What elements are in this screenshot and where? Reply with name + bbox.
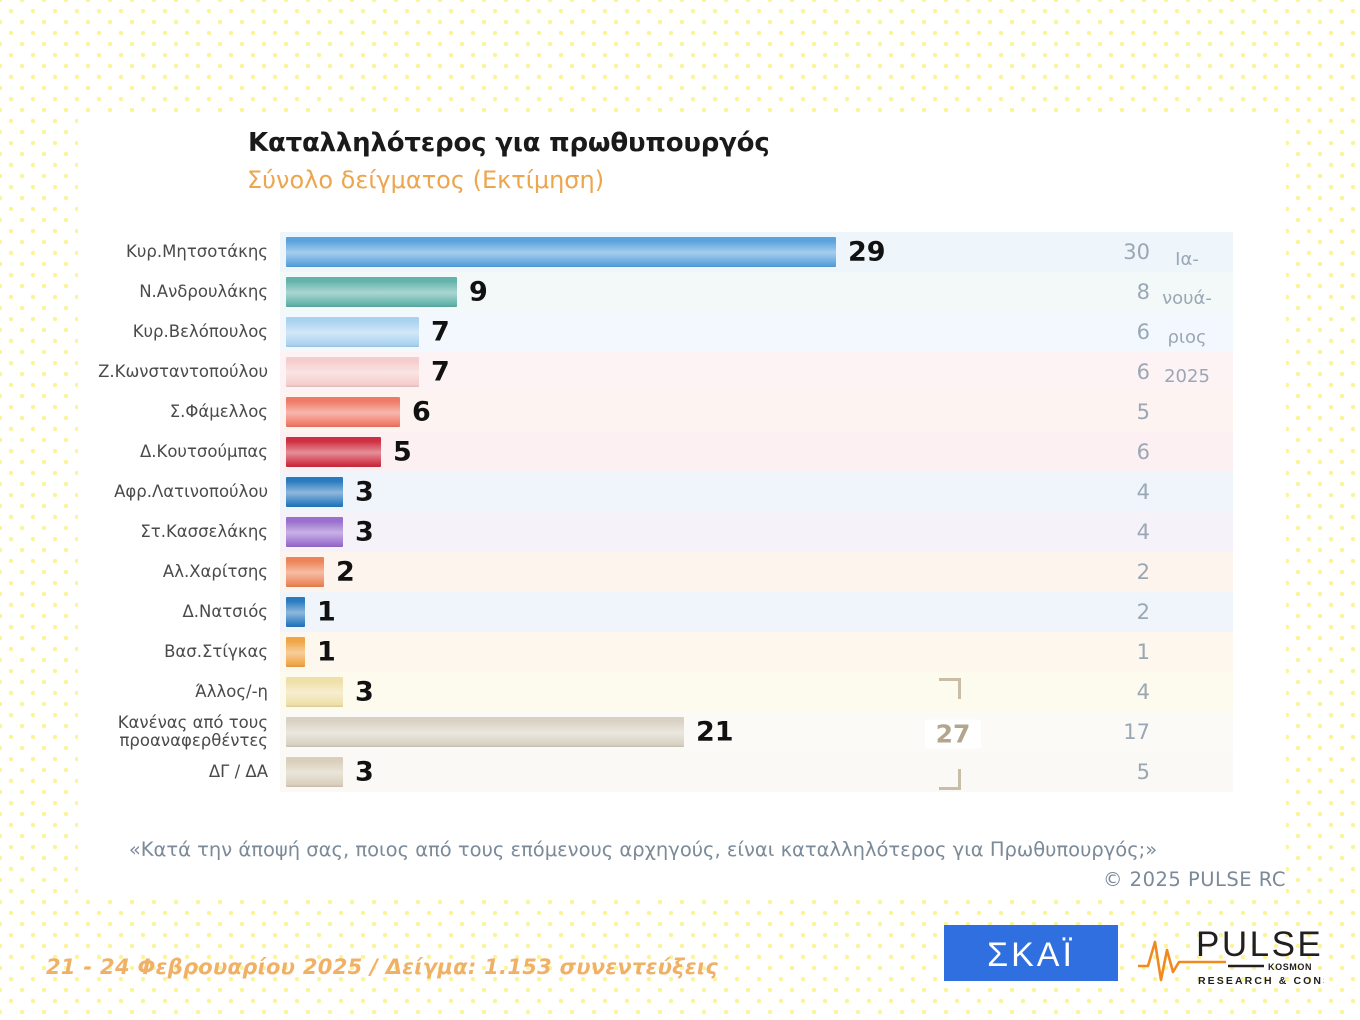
row-body: 2117 — [280, 712, 1233, 752]
bar-value-label: 1 — [317, 637, 336, 668]
bar — [286, 597, 305, 627]
month-caption-line-2: νουά- — [1152, 279, 1222, 318]
bar-value-label: 9 — [469, 277, 488, 308]
row-label: Αφρ.Λατινοπούλου — [78, 483, 280, 501]
bar-value-label: 7 — [431, 357, 450, 388]
svg-text:PULSE: PULSE — [1196, 925, 1323, 964]
bar-value-label: 1 — [317, 597, 336, 628]
row-body: 76 — [280, 352, 1233, 392]
previous-month-value: 6 — [1104, 360, 1150, 384]
table-row: Στ.Κασσελάκης34 — [78, 512, 1233, 552]
bar-value-label: 7 — [431, 317, 450, 348]
row-background — [280, 472, 1233, 512]
bar-value-label: 29 — [848, 237, 886, 268]
previous-month-value: 30 — [1104, 240, 1150, 264]
row-body: 12 — [280, 592, 1233, 632]
previous-month-value: 6 — [1104, 320, 1150, 344]
bar-value-label: 3 — [355, 677, 374, 708]
bar-value-label: 3 — [355, 517, 374, 548]
bar — [286, 517, 343, 547]
row-background — [280, 432, 1233, 472]
bracket-bottom-stem — [958, 769, 961, 790]
table-row: Δ.Νατσιός12 — [78, 592, 1233, 632]
row-background — [280, 312, 1233, 352]
row-body: 2930 — [280, 232, 1233, 272]
previous-month-caption: Ια- νουά- ριος 2025 — [1152, 240, 1222, 396]
bracket-sum-annotation: 27 — [925, 678, 987, 790]
row-body: 34 — [280, 512, 1233, 552]
previous-month-value: 5 — [1104, 400, 1150, 424]
row-label: ΔΓ / ΔΑ — [78, 763, 280, 781]
bar-value-label: 3 — [355, 757, 374, 788]
row-label: Ζ.Κωνσταντοπούλου — [78, 363, 280, 381]
previous-month-value: 4 — [1104, 480, 1150, 504]
row-background — [280, 672, 1233, 712]
row-body: 34 — [280, 472, 1233, 512]
fieldwork-date: 21 - 24 Φεβρουαρίου 2025 / Δείγμα: 1.153… — [46, 955, 718, 979]
row-body: 76 — [280, 312, 1233, 352]
bracket-top-stem — [958, 678, 961, 699]
table-row: Σ.Φάμελλος65 — [78, 392, 1233, 432]
row-background — [280, 632, 1233, 672]
skai-logo: ΣΚΑΪ — [944, 925, 1118, 981]
row-body: 34 — [280, 672, 1233, 712]
bar — [286, 237, 836, 267]
table-row: Βασ.Στίγκας11 — [78, 632, 1233, 672]
bar-value-label: 21 — [696, 717, 734, 748]
month-caption-line-4: 2025 — [1152, 357, 1222, 396]
row-body: 35 — [280, 752, 1233, 792]
row-label: Ν.Ανδρουλάκης — [78, 283, 280, 301]
row-body: 22 — [280, 552, 1233, 592]
table-row: Αφρ.Λατινοπούλου34 — [78, 472, 1233, 512]
svg-text:KOSMON: KOSMON — [1268, 962, 1312, 972]
page-subtitle: Σύνολο δείγματος (Εκτίμηση) — [247, 166, 604, 194]
copyright-notice: © 2025 PULSE RC — [1103, 868, 1286, 891]
row-label: Κυρ.Βελόπουλος — [78, 323, 280, 341]
previous-month-value: 4 — [1104, 520, 1150, 544]
row-label: Σ.Φάμελλος — [78, 403, 280, 421]
row-label: Δ.Κουτσούμπας — [78, 443, 280, 461]
row-label: Δ.Νατσιός — [78, 603, 280, 621]
row-body: 65 — [280, 392, 1233, 432]
previous-month-value: 1 — [1104, 640, 1150, 664]
bar — [286, 557, 324, 587]
bracket-sum-value: 27 — [925, 720, 981, 749]
previous-month-value: 2 — [1104, 560, 1150, 584]
table-row: Κυρ.Βελόπουλος76 — [78, 312, 1233, 352]
row-background — [280, 352, 1233, 392]
previous-month-value: 17 — [1104, 720, 1150, 744]
month-caption-line-1: Ια- — [1152, 240, 1222, 279]
previous-month-value: 6 — [1104, 440, 1150, 464]
bar-value-label: 5 — [393, 437, 412, 468]
previous-month-value: 4 — [1104, 680, 1150, 704]
row-body: 11 — [280, 632, 1233, 672]
row-background — [280, 552, 1233, 592]
bar — [286, 357, 419, 387]
month-caption-line-3: ριος — [1152, 318, 1222, 357]
row-label: Άλλος/-η — [78, 683, 280, 701]
table-row: Κανένας από τους προαναφερθέντες2117 — [78, 712, 1233, 752]
bar — [286, 637, 305, 667]
row-background — [280, 592, 1233, 632]
bar-value-label: 3 — [355, 477, 374, 508]
previous-month-value: 5 — [1104, 760, 1150, 784]
previous-month-value: 8 — [1104, 280, 1150, 304]
bar — [286, 437, 381, 467]
row-background — [280, 752, 1233, 792]
bar — [286, 317, 419, 347]
bar — [286, 477, 343, 507]
row-label: Κυρ.Μητσοτάκης — [78, 243, 280, 261]
table-row: Κυρ.Μητσοτάκης2930 — [78, 232, 1233, 272]
svg-text:RESEARCH & CONSULTING: RESEARCH & CONSULTING — [1198, 975, 1324, 987]
table-row: Ν.Ανδρουλάκης98 — [78, 272, 1233, 312]
table-row: Δ.Κουτσούμπας56 — [78, 432, 1233, 472]
row-label: Κανένας από τους προαναφερθέντες — [78, 714, 280, 751]
poll-question: «Κατά την άποψή σας, ποιος από τους επόμ… — [0, 838, 1286, 861]
bar — [286, 677, 343, 707]
bar-chart: Κυρ.Μητσοτάκης2930Ν.Ανδρουλάκης98Κυρ.Βελ… — [78, 232, 1233, 792]
page-title: Καταλληλότερος για πρωθυπουργός — [248, 128, 770, 158]
previous-month-value: 2 — [1104, 600, 1150, 624]
bar — [286, 397, 400, 427]
row-body: 98 — [280, 272, 1233, 312]
row-label: Στ.Κασσελάκης — [78, 523, 280, 541]
bar-value-label: 2 — [336, 557, 355, 588]
svg-text:ΣΚΑΪ: ΣΚΑΪ — [987, 936, 1075, 974]
table-row: ΔΓ / ΔΑ35 — [78, 752, 1233, 792]
table-row: Ζ.Κωνσταντοπούλου76 — [78, 352, 1233, 392]
table-row: Αλ.Χαρίτσης22 — [78, 552, 1233, 592]
bar — [286, 717, 684, 747]
bar — [286, 277, 457, 307]
pulse-logo: PULSE KOSMON RESEARCH & CONSULTING — [1136, 920, 1324, 988]
bar — [286, 757, 343, 787]
row-background — [280, 512, 1233, 552]
table-row: Άλλος/-η34 — [78, 672, 1233, 712]
bar-value-label: 6 — [412, 397, 431, 428]
row-body: 56 — [280, 432, 1233, 472]
row-label: Αλ.Χαρίτσης — [78, 563, 280, 581]
row-label: Βασ.Στίγκας — [78, 643, 280, 661]
